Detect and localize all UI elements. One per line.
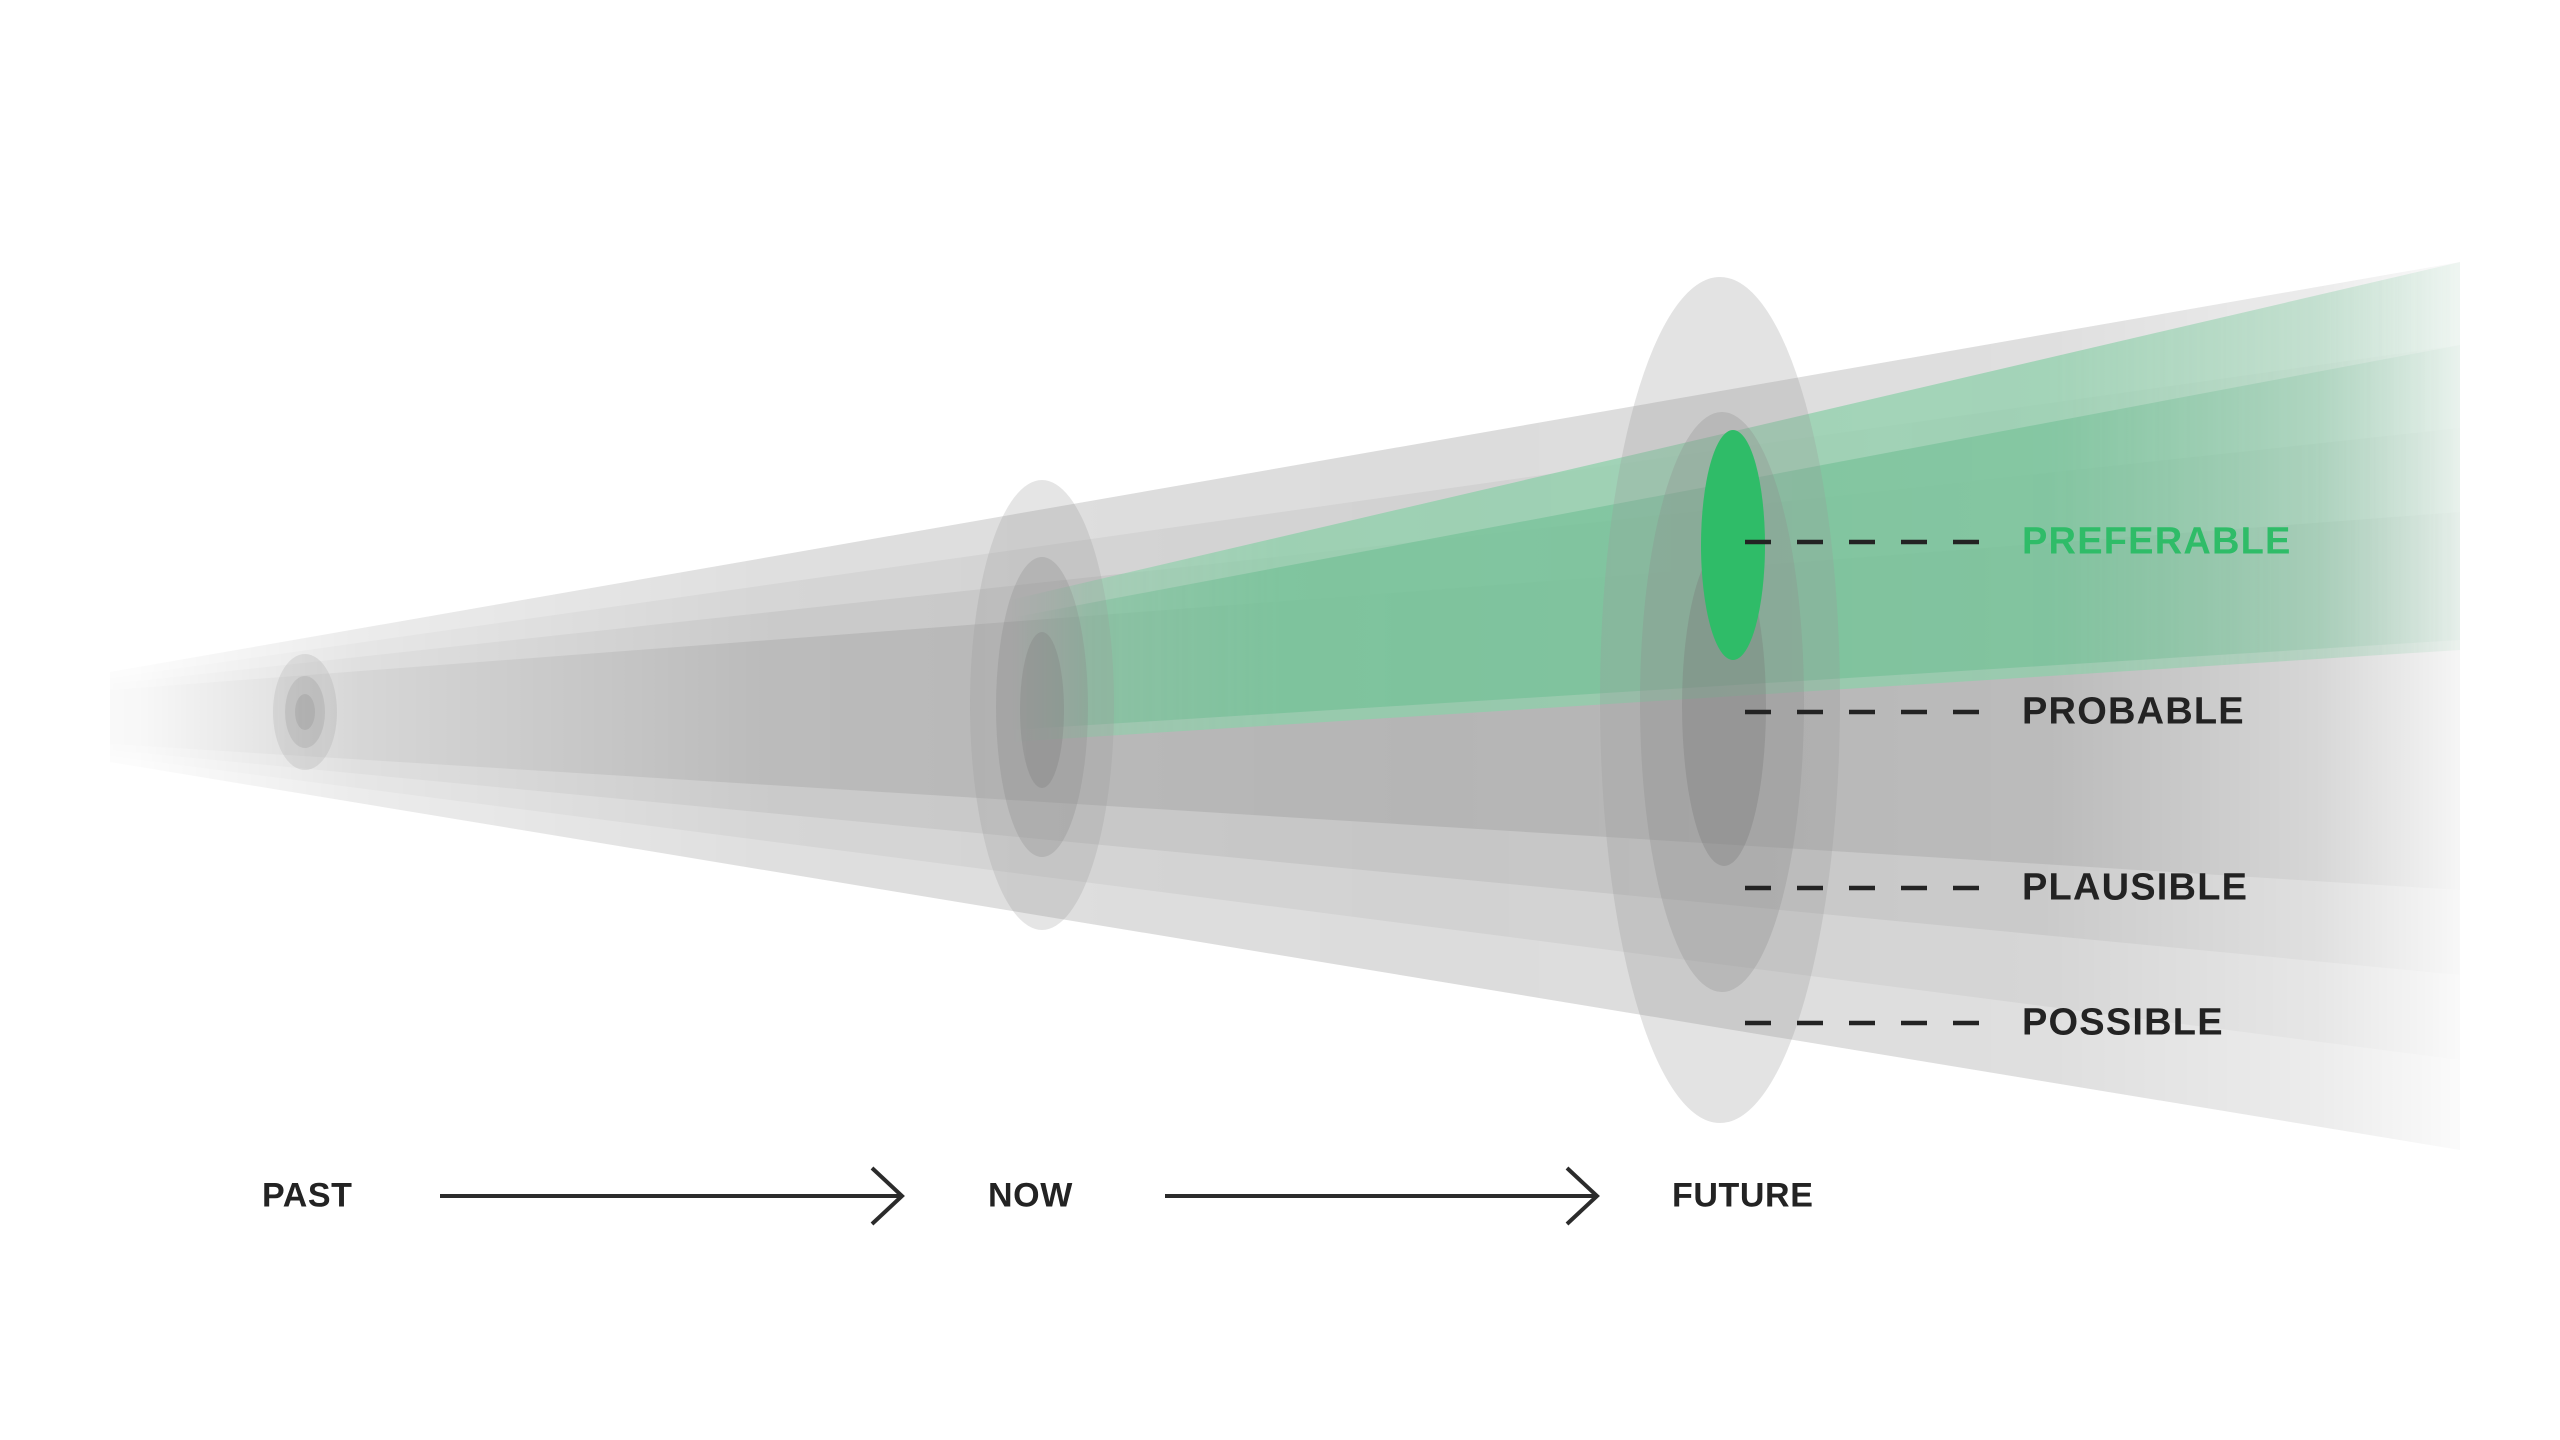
cone-label-possible: POSSIBLE <box>2022 1002 2224 1045</box>
preferable-core-ellipse <box>1701 430 1765 660</box>
cone-label-preferable: PREFERABLE <box>2022 521 2292 564</box>
timeline-label-past: PAST <box>262 1177 353 1216</box>
cone-label-probable: PROBABLE <box>2022 691 2245 734</box>
timeline-label-now: NOW <box>988 1177 1073 1216</box>
arrow-now-to-future <box>1165 1168 1597 1224</box>
timeline-label-future: FUTURE <box>1672 1177 1813 1216</box>
futures-cone-diagram: PREFERABLE PROBABLE PLAUSIBLE POSSIBLE P… <box>0 0 2560 1440</box>
now-marker <box>970 480 1114 930</box>
past-marker <box>273 654 337 770</box>
cone-label-plausible: PLAUSIBLE <box>2022 867 2248 910</box>
future-marker <box>1600 277 1840 1123</box>
arrow-past-to-now <box>440 1168 902 1224</box>
